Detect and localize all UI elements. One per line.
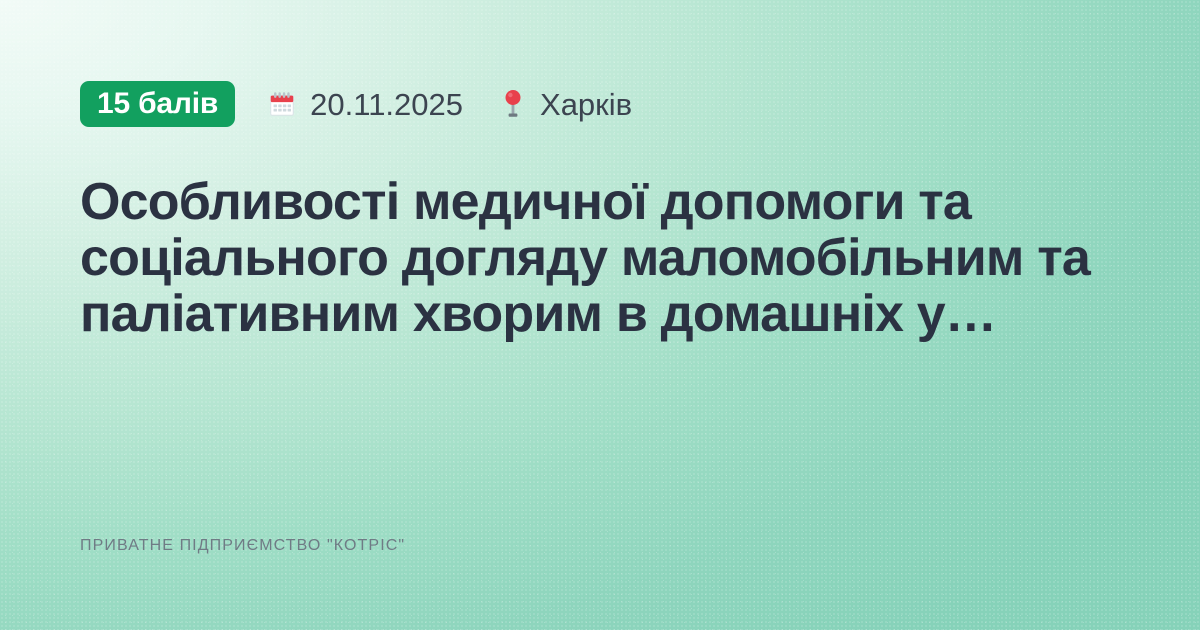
event-location-value: Харків [540, 89, 632, 120]
score-badge: 15 балів [80, 81, 235, 127]
event-social-card: 15 балів [0, 0, 1200, 630]
event-date: 20.11.2025 [267, 89, 463, 120]
event-date-value: 20.11.2025 [310, 89, 463, 120]
round-pushpin-icon [499, 88, 527, 120]
meta-row: 15 балів [80, 80, 1130, 128]
spiral-calendar-icon [267, 89, 297, 119]
organization-name: ПРИВАТНЕ ПІДПРИЄМСТВО "КОТРІС" [80, 538, 405, 554]
page-title: Особливості медичної допомоги та соціаль… [80, 128, 1130, 342]
event-location: Харків [499, 88, 632, 120]
